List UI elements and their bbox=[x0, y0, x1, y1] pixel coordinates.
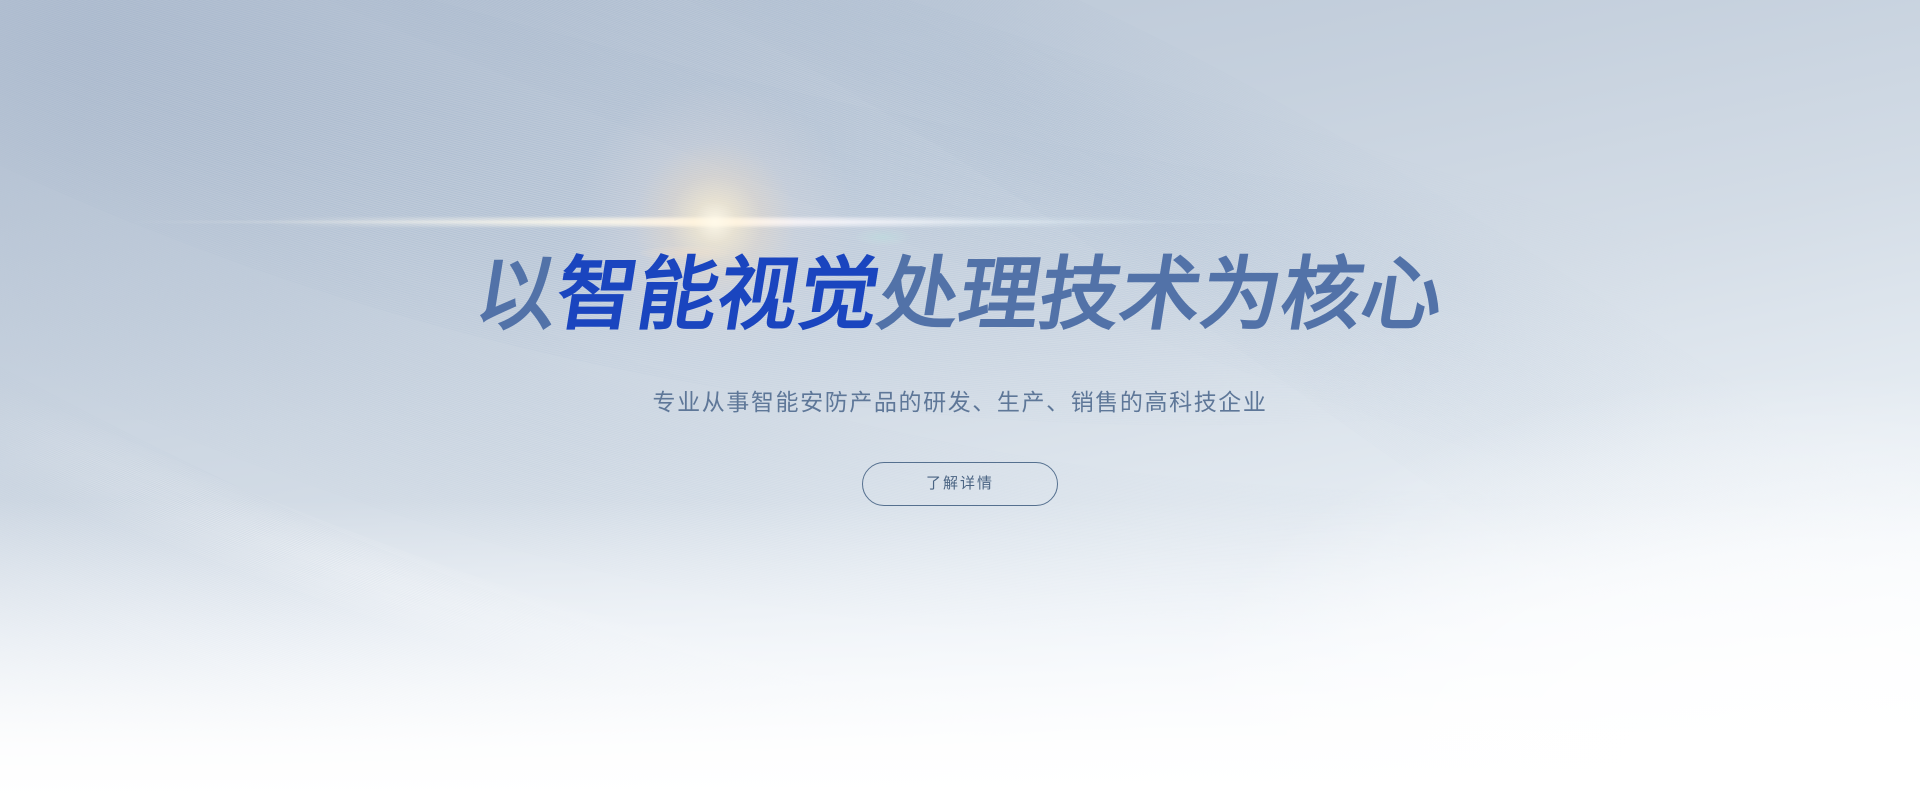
page-title: 以智能视觉处理技术为核心 bbox=[0, 255, 1920, 335]
lens-flare-streak-wide bbox=[125, 221, 1305, 224]
cta-container: 了解详情 bbox=[0, 462, 1920, 506]
lens-flare-streak bbox=[265, 218, 1165, 227]
headline-lead: 以 bbox=[470, 248, 565, 341]
hero-subtitle: 专业从事智能安防产品的研发、生产、销售的高科技企业 bbox=[0, 388, 1920, 418]
bottom-fade-overlay bbox=[0, 500, 1920, 800]
headline-accent: 智能视觉 bbox=[550, 248, 887, 341]
lens-flare-ghost-teal bbox=[856, 228, 910, 246]
hero-content: 以智能视觉处理技术为核心 专业从事智能安防产品的研发、生产、销售的高科技企业 了… bbox=[0, 255, 1920, 506]
hero-banner: 以智能视觉处理技术为核心 专业从事智能安防产品的研发、生产、销售的高科技企业 了… bbox=[0, 0, 1920, 800]
learn-more-button[interactable]: 了解详情 bbox=[862, 462, 1058, 506]
headline-tail: 处理技术为核心 bbox=[872, 248, 1450, 341]
